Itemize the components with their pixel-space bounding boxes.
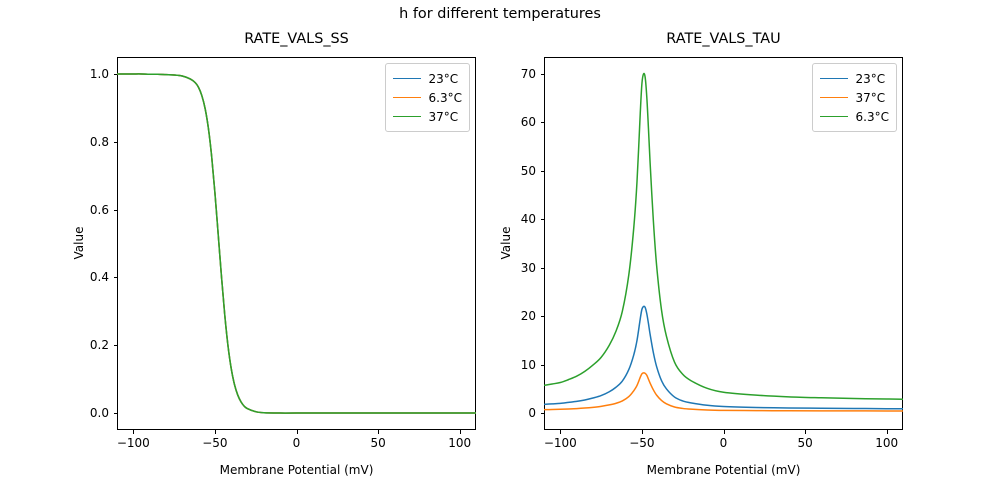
x-tick-label: 100 bbox=[875, 436, 898, 450]
x-tick bbox=[133, 430, 134, 434]
legend-ss[interactable]: 23°C6.3°C37°C bbox=[385, 63, 470, 132]
legend-line-swatch bbox=[820, 116, 848, 117]
y-tick bbox=[114, 142, 118, 143]
y-tick bbox=[541, 268, 545, 269]
x-tick-label: 100 bbox=[448, 436, 471, 450]
y-tick bbox=[541, 316, 545, 317]
y-tick-label: 0.0 bbox=[59, 406, 109, 420]
y-tick-label: 70 bbox=[486, 67, 536, 81]
ylabel-ss: Value bbox=[72, 203, 86, 283]
x-tick bbox=[460, 430, 461, 434]
y-tick bbox=[541, 219, 545, 220]
legend-line-swatch bbox=[393, 78, 421, 79]
legend-tau[interactable]: 23°C37°C6.3°C bbox=[812, 63, 897, 132]
legend-entry[interactable]: 37°C bbox=[820, 88, 889, 107]
y-tick-label: 1.0 bbox=[59, 67, 109, 81]
legend-entry[interactable]: 6.3°C bbox=[820, 107, 889, 126]
subplot-rate-vals-ss: RATE_VALS_SS −100−500501000.00.20.40.60.… bbox=[117, 57, 476, 430]
x-tick-label: 0 bbox=[293, 436, 301, 450]
ylabel-tau: Value bbox=[499, 203, 513, 283]
figure-suptitle: h for different temperatures bbox=[0, 6, 1000, 22]
x-tick bbox=[724, 430, 725, 434]
y-tick-label: 60 bbox=[486, 115, 536, 129]
x-tick-label: −50 bbox=[202, 436, 227, 450]
y-tick bbox=[541, 365, 545, 366]
x-tick-label: 50 bbox=[370, 436, 385, 450]
y-tick bbox=[114, 345, 118, 346]
y-tick bbox=[114, 74, 118, 75]
legend-entry-label: 6.3°C bbox=[429, 91, 462, 105]
subplot-rate-vals-tau: RATE_VALS_TAU −100−500501000102030405060… bbox=[544, 57, 903, 430]
y-tick-label: 10 bbox=[486, 358, 536, 372]
x-tick bbox=[887, 430, 888, 434]
x-tick-label: 50 bbox=[797, 436, 812, 450]
x-tick bbox=[215, 430, 216, 434]
x-tick-label: −100 bbox=[544, 436, 577, 450]
legend-entry-label: 37°C bbox=[429, 110, 459, 124]
y-tick bbox=[541, 413, 545, 414]
y-tick bbox=[114, 277, 118, 278]
y-tick bbox=[114, 413, 118, 414]
subplot-title-tau: RATE_VALS_TAU bbox=[544, 31, 903, 47]
legend-entry-label: 37°C bbox=[856, 91, 886, 105]
matplotlib-figure: h for different temperatures RATE_VALS_S… bbox=[0, 0, 1000, 500]
legend-entry-label: 6.3°C bbox=[856, 110, 889, 124]
legend-entry[interactable]: 23°C bbox=[820, 69, 889, 88]
y-tick bbox=[541, 171, 545, 172]
y-tick-label: 0 bbox=[486, 406, 536, 420]
x-tick-label: −50 bbox=[629, 436, 654, 450]
subplot-title-ss: RATE_VALS_SS bbox=[117, 31, 476, 47]
legend-line-swatch bbox=[393, 116, 421, 117]
y-tick-label: 0.2 bbox=[59, 338, 109, 352]
xlabel-tau: Membrane Potential (mV) bbox=[544, 463, 903, 477]
y-tick bbox=[541, 122, 545, 123]
x-tick-label: −100 bbox=[117, 436, 150, 450]
series-line bbox=[544, 306, 903, 408]
legend-entry[interactable]: 6.3°C bbox=[393, 88, 462, 107]
legend-line-swatch bbox=[820, 78, 848, 79]
legend-line-swatch bbox=[393, 97, 421, 98]
y-tick bbox=[114, 210, 118, 211]
x-tick bbox=[378, 430, 379, 434]
y-tick-label: 0.8 bbox=[59, 135, 109, 149]
x-tick-label: 0 bbox=[720, 436, 728, 450]
legend-entry[interactable]: 37°C bbox=[393, 107, 462, 126]
x-tick bbox=[805, 430, 806, 434]
legend-entry-label: 23°C bbox=[856, 72, 886, 86]
x-tick bbox=[297, 430, 298, 434]
y-tick-label: 50 bbox=[486, 164, 536, 178]
x-tick bbox=[642, 430, 643, 434]
legend-entry[interactable]: 23°C bbox=[393, 69, 462, 88]
y-tick-label: 20 bbox=[486, 309, 536, 323]
legend-entry-label: 23°C bbox=[429, 72, 459, 86]
x-tick bbox=[560, 430, 561, 434]
y-tick bbox=[541, 74, 545, 75]
xlabel-ss: Membrane Potential (mV) bbox=[117, 463, 476, 477]
legend-line-swatch bbox=[820, 97, 848, 98]
